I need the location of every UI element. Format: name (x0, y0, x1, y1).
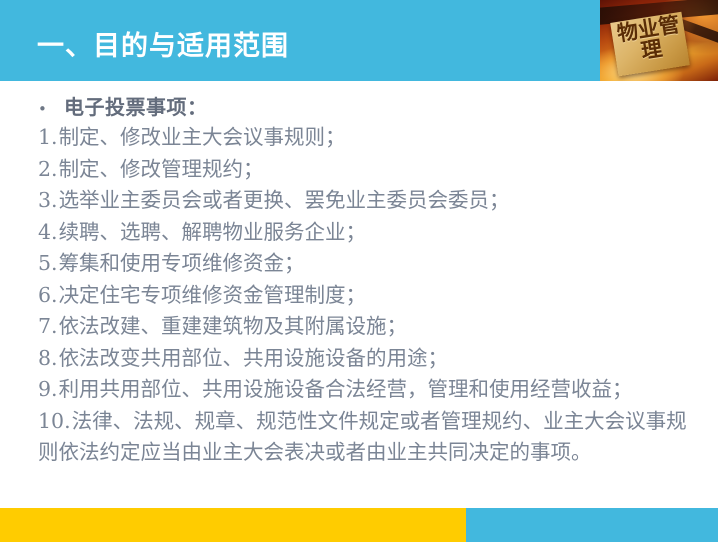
bullet-heading: • 电子投票事项： (38, 91, 208, 120)
list-item: 6.决定住宅专项维修资金管理制度； (38, 280, 698, 312)
list-item-text: 依法改变共用部位、共用设施设备的用途； (59, 343, 449, 375)
list-item: 3.选举业主委员会或者更换、罢免业主委员会委员； (38, 185, 698, 217)
list-item: 9.利用共用部位、共用设施设备合法经营，管理和使用经营收益； (38, 374, 698, 406)
list-item-number: 6. (38, 280, 59, 312)
list-item-number: 5. (38, 248, 59, 280)
footer-bands (0, 508, 718, 542)
list-item-text: 制定、修改业主大会议事规则； (59, 122, 346, 154)
list-item-text: 利用共用部位、共用设施设备合法经营，管理和使用经营收益； (59, 374, 633, 406)
list-item-text: 制定、修改管理规约； (59, 154, 264, 186)
list-item-text: 依法改建、重建建筑物及其附属设施； (59, 311, 408, 343)
page-title: 一、目的与适用范围 (37, 33, 289, 60)
list-item: 7.依法改建、重建建筑物及其附属设施； (38, 311, 698, 343)
list-item-number: 7. (38, 311, 59, 343)
list-item-number: 1. (38, 122, 59, 154)
list-item-number: 8. (38, 343, 59, 375)
slide-body: • 电子投票事项： 1.制定、修改业主大会议事规则；2.制定、修改管理规约；3.… (0, 81, 718, 508)
list-item-number: 10. (38, 409, 72, 433)
list-item-text: 续聘、选聘、解聘物业服务企业； (59, 217, 367, 249)
list-item: 2.制定、修改管理规约； (38, 154, 698, 186)
list-item-number: 4. (38, 217, 59, 249)
list-item: 10.法律、法规、规章、规范性文件规定或者管理规约、业主大会议事规则依法约定应当… (38, 406, 698, 469)
bullet-dot-icon: • (38, 100, 64, 118)
list-item: 5.筹集和使用专项维修资金； (38, 248, 698, 280)
property-management-book-photo: 物业管理 (600, 0, 718, 82)
list-item-text: 筹集和使用专项维修资金； (59, 248, 305, 280)
list-item-text: 法律、法规、规章、规范性文件规定或者管理规约、业主大会议事规则依法约定应当由业主… (38, 409, 687, 465)
footer-yellow-band (0, 508, 466, 542)
list-item: 4.续聘、选聘、解聘物业服务企业； (38, 217, 698, 249)
list-item-number: 3. (38, 185, 59, 217)
list-item-text: 决定住宅专项维修资金管理制度； (59, 280, 367, 312)
footer-cyan-band (466, 508, 718, 542)
list-item-text: 选举业主委员会或者更换、罢免业主委员会委员； (59, 185, 510, 217)
header-band: 一、目的与适用范围 物业管理 (0, 0, 718, 81)
list-item-number: 9. (38, 374, 59, 406)
list-item: 8.依法改变共用部位、共用设施设备的用途； (38, 343, 698, 375)
list-item-number: 2. (38, 154, 59, 186)
numbered-item-list: 1.制定、修改业主大会议事规则；2.制定、修改管理规约；3.选举业主委员会或者更… (38, 122, 698, 469)
bullet-heading-label: 电子投票事项： (64, 91, 208, 120)
list-item: 1.制定、修改业主大会议事规则； (38, 122, 698, 154)
